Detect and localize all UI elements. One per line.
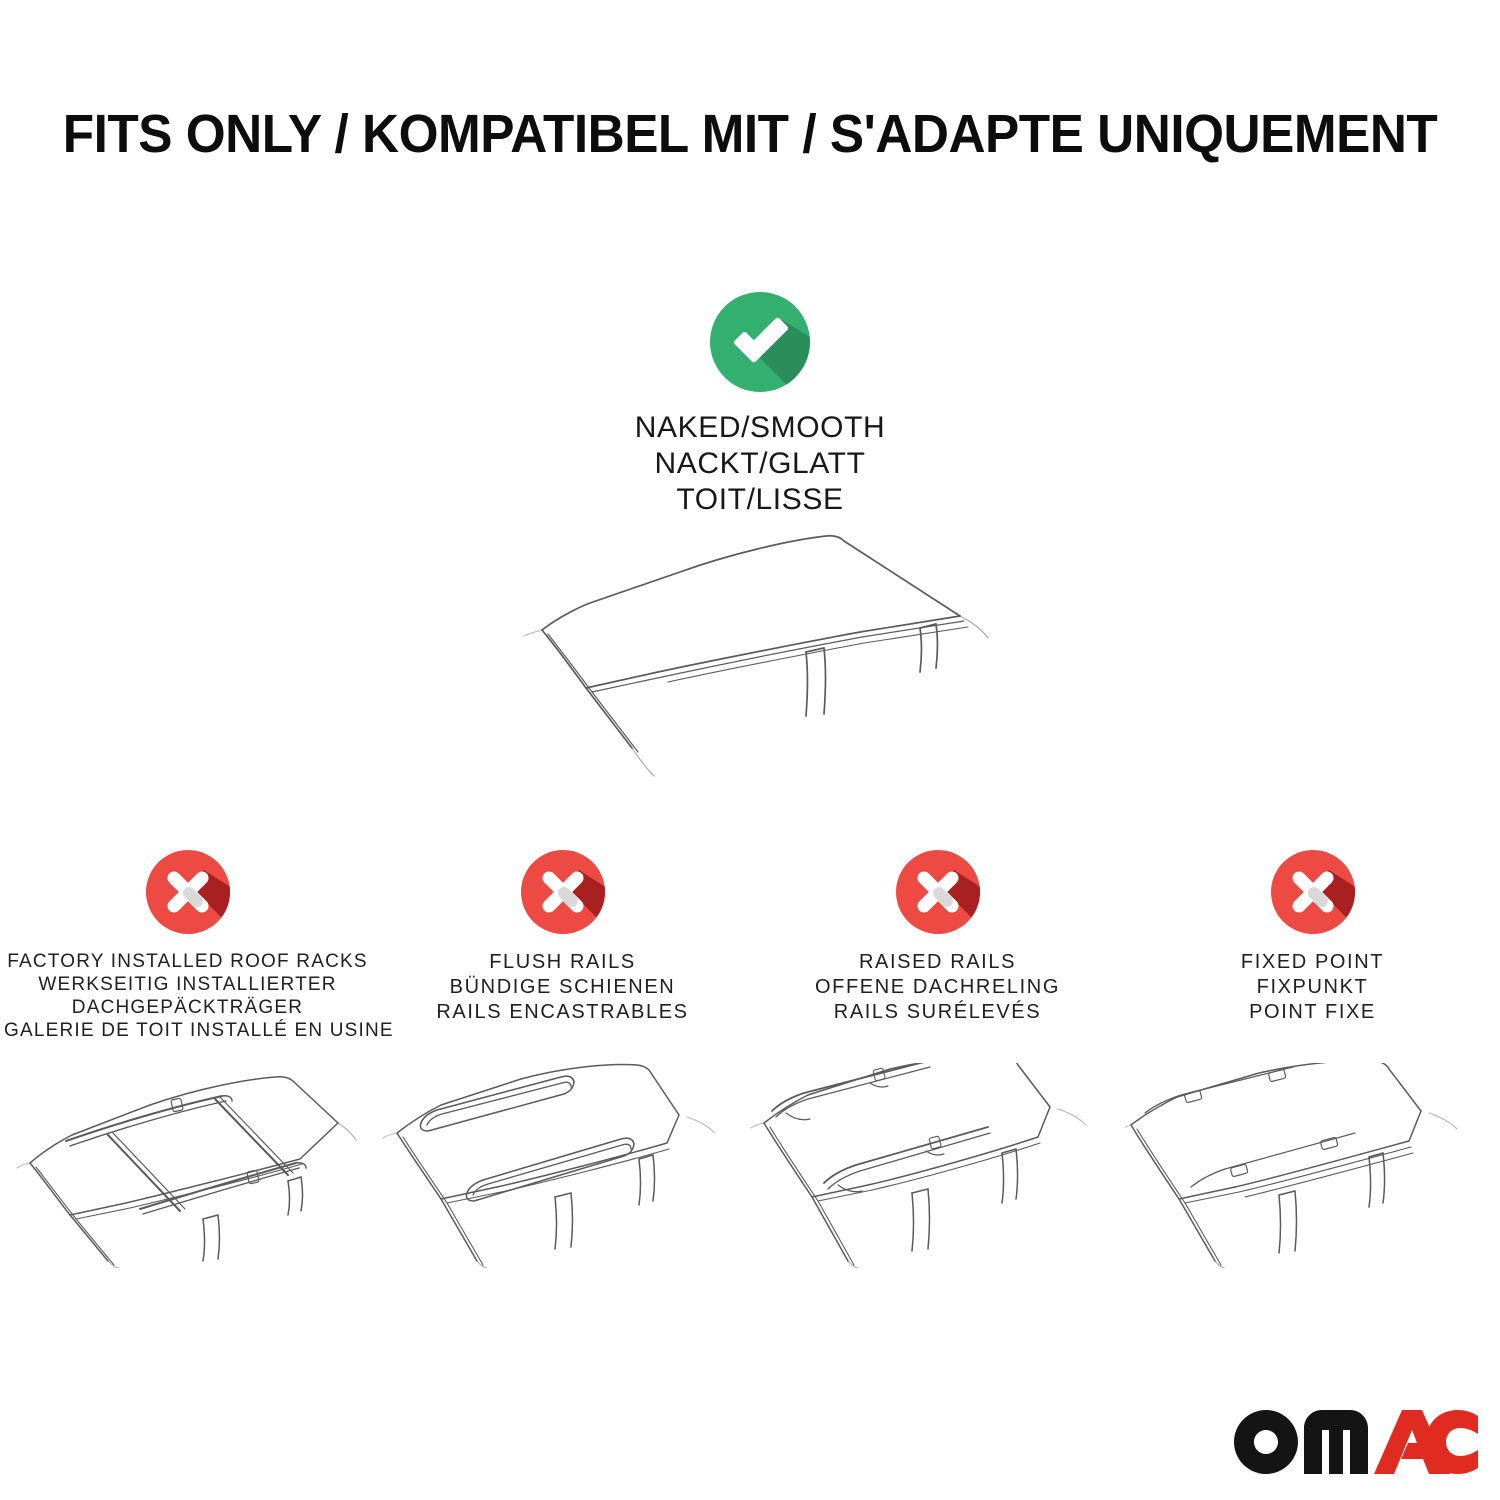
logo-letter-o [1234, 1410, 1298, 1474]
page-title: FITS ONLY / KOMPATIBEL MIT / S'ADAPTE UN… [38, 104, 1463, 164]
incompatible-item-flush-rails: FLUSH RAILS BÜNDIGE SCHIENEN RAILS ENCAS… [375, 848, 750, 1268]
incompatible-item-label: RAISED RAILS OFFENE DACHRELING RAILS SUR… [750, 950, 1125, 1025]
incompatible-item-label: FACTORY INSTALLED ROOF RACKS WERKSEITIG … [0, 950, 375, 1042]
label-line: BÜNDIGE SCHIENEN [379, 975, 746, 1000]
compatible-label-line: NAKED/SMOOTH [490, 410, 1030, 446]
check-circle-icon [708, 290, 812, 394]
label-line: RAILS ENCASTRABLES [379, 1000, 746, 1025]
flush-rails-illustration [375, 1063, 750, 1268]
label-line: RAISED RAILS [754, 950, 1121, 975]
label-line: FIXED POINT [1129, 950, 1496, 975]
label-line: RAILS SURÉLEVÉS [754, 1000, 1121, 1025]
compatible-roof-type: NAKED/SMOOTH NACKT/GLATT TOIT/LISSE [490, 290, 1030, 790]
cross-circle-icon [144, 848, 232, 936]
cross-circle-icon [894, 848, 982, 936]
incompatible-roof-types: FACTORY INSTALLED ROOF RACKS WERKSEITIG … [0, 848, 1500, 1268]
raised-rails-illustration [750, 1063, 1125, 1268]
fixed-point-illustration [1125, 1063, 1500, 1268]
incompatible-item-raised-rails: RAISED RAILS OFFENE DACHRELING RAILS SUR… [750, 848, 1125, 1268]
factory-roof-rack-illustration [0, 1063, 375, 1268]
label-line: FACTORY INSTALLED ROOF RACKS [4, 950, 371, 973]
cross-circle-icon [1269, 848, 1357, 936]
compatible-label-line: TOIT/LISSE [490, 482, 1030, 518]
incompatible-item-label: FIXED POINT FIXPUNKT POINT FIXE [1125, 950, 1500, 1025]
smooth-roof-illustration [490, 520, 1030, 790]
logo-letter-m [1304, 1410, 1368, 1474]
label-line: OFFENE DACHRELING [754, 975, 1121, 1000]
compatible-label-line: NACKT/GLATT [490, 446, 1030, 482]
incompatible-item-factory-roof-racks: FACTORY INSTALLED ROOF RACKS WERKSEITIG … [0, 848, 375, 1268]
incompatible-item-label: FLUSH RAILS BÜNDIGE SCHIENEN RAILS ENCAS… [375, 950, 750, 1025]
compatible-label: NAKED/SMOOTH NACKT/GLATT TOIT/LISSE [490, 410, 1030, 518]
incompatible-item-fixed-point: FIXED POINT FIXPUNKT POINT FIXE [1125, 848, 1500, 1268]
label-line: GALERIE DE TOIT INSTALLÉ EN USINE [4, 1019, 371, 1042]
omac-logo [1232, 1408, 1480, 1476]
label-line: DACHGEPÄCKTRÄGER [4, 996, 371, 1019]
label-line: WERKSEITIG INSTALLIERTER [4, 973, 371, 996]
label-line: POINT FIXE [1129, 1000, 1496, 1025]
label-line: FLUSH RAILS [379, 950, 746, 975]
cross-circle-icon [519, 848, 607, 936]
label-line: FIXPUNKT [1129, 975, 1496, 1000]
